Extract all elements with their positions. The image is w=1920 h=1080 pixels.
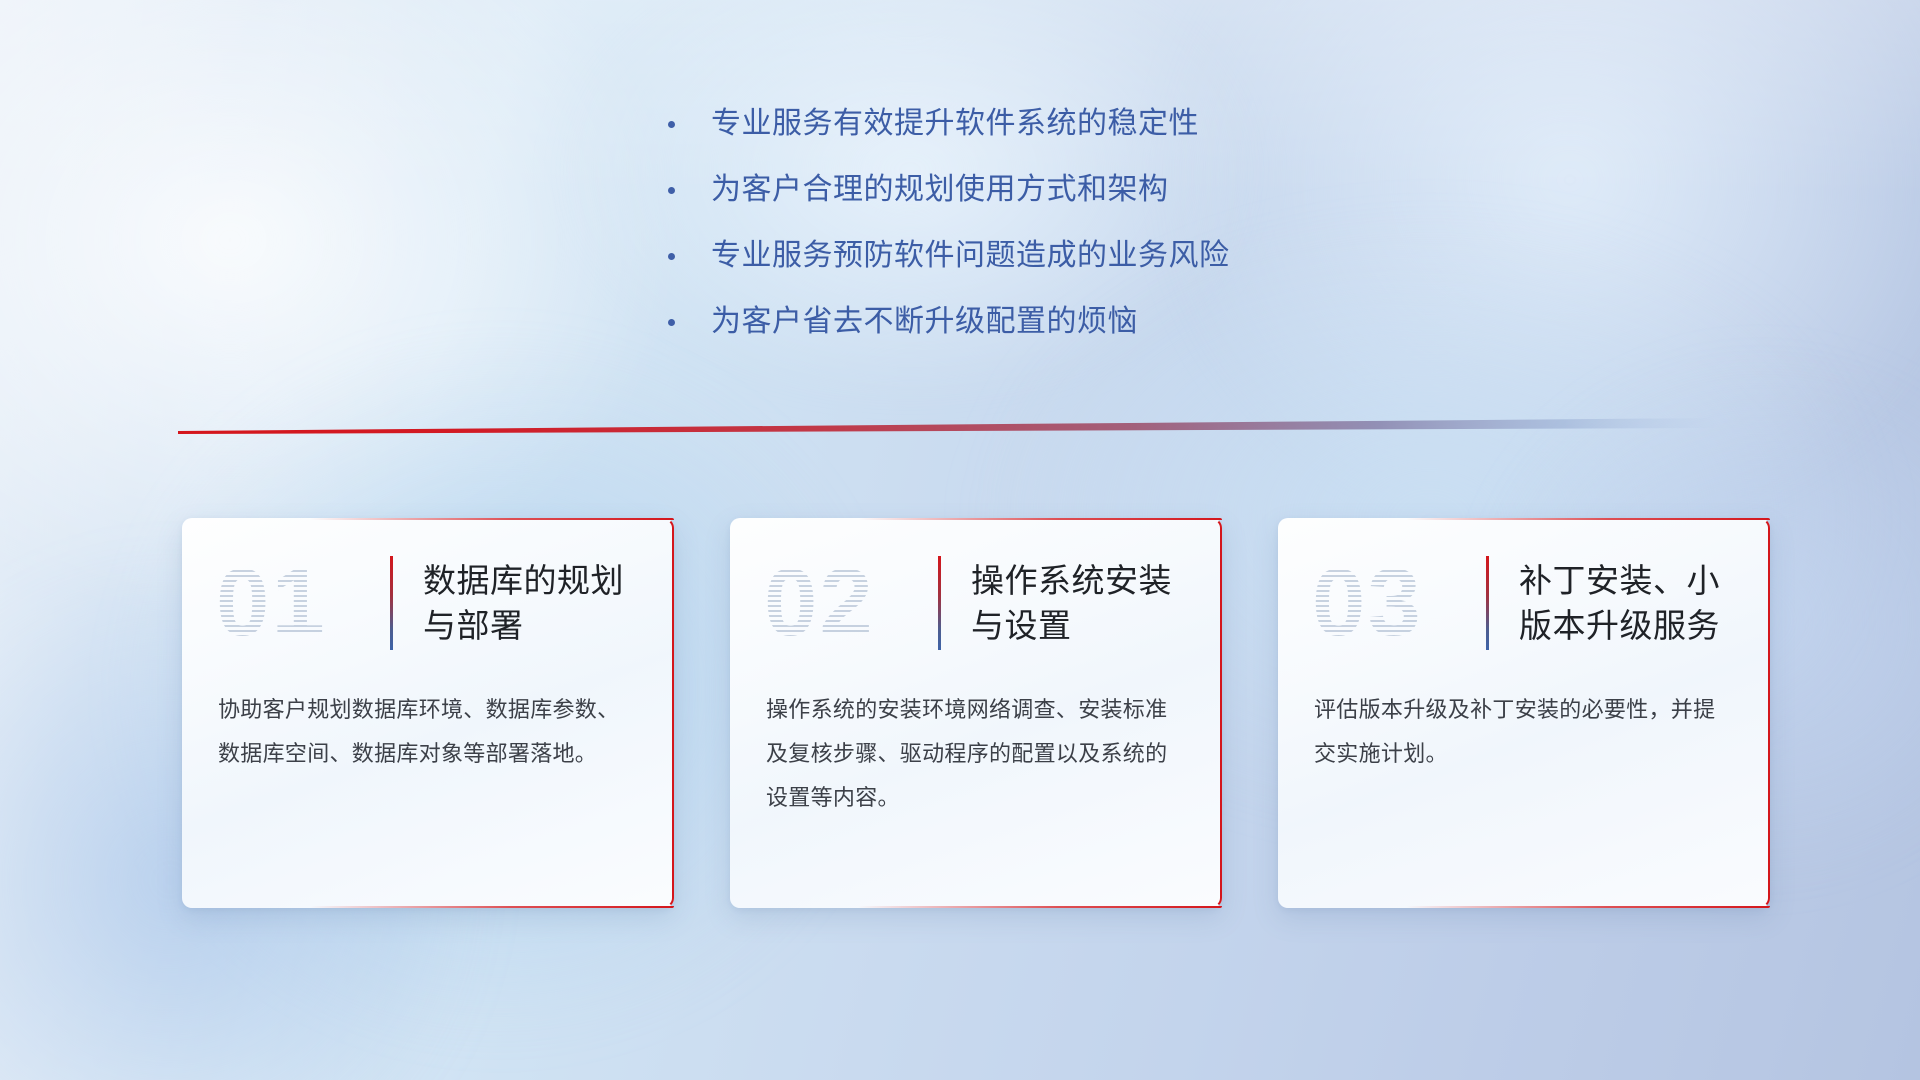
bullet-text: 专业服务预防软件问题造成的业务风险 (711, 236, 1230, 276)
bullet-text: 专业服务有效提升软件系统的稳定性 (711, 104, 1199, 144)
card-body-text: 评估版本升级及补丁安装的必要性，并提交实施计划。 (1278, 688, 1770, 776)
card-number: 03 (1312, 555, 1482, 651)
list-item: 为客户合理的规划使用方式和架构 (668, 170, 1428, 210)
card-accent-bottom (1406, 906, 1770, 908)
service-card-03[interactable]: 03 补丁安装、小版本升级服务 评估版本升级及补丁安装的必要性，并提交实施计划。 (1278, 518, 1770, 908)
card-header: 03 补丁安装、小版本升级服务 (1278, 518, 1770, 688)
card-body-text: 操作系统的安装环境网络调查、安装标准及复核步骤、驱动程序的配置以及系统的设置等内… (730, 688, 1222, 820)
bullet-dot-icon (668, 319, 675, 326)
list-item: 专业服务有效提升软件系统的稳定性 (668, 104, 1428, 144)
card-number-text: 03 (1312, 555, 1423, 651)
card-title: 数据库的规划与部署 (423, 558, 653, 648)
card-number: 01 (216, 555, 386, 651)
service-card-01[interactable]: 01 数据库的规划与部署 协助客户规划数据库环境、数据库参数、数据库空间、数据库… (182, 518, 674, 908)
card-divider-line (390, 556, 393, 650)
bullet-dot-icon (668, 187, 675, 194)
card-accent-bottom (858, 906, 1222, 908)
list-item: 专业服务预防软件问题造成的业务风险 (668, 236, 1428, 276)
service-card-02[interactable]: 02 操作系统安装与设置 操作系统的安装环境网络调查、安装标准及复核步骤、驱动程… (730, 518, 1222, 908)
card-accent-bottom (310, 906, 674, 908)
divider-wedge-icon (178, 418, 1718, 440)
bullet-dot-icon (668, 253, 675, 260)
card-number: 02 (764, 555, 934, 651)
list-item: 为客户省去不断升级配置的烦恼 (668, 302, 1428, 342)
card-title: 操作系统安装与设置 (971, 558, 1201, 648)
slide-canvas: 专业服务有效提升软件系统的稳定性 为客户合理的规划使用方式和架构 专业服务预防软… (0, 0, 1920, 1080)
section-divider (178, 418, 1718, 440)
card-number-text: 02 (764, 555, 875, 651)
bullet-text: 为客户省去不断升级配置的烦恼 (711, 302, 1138, 342)
card-body-text: 协助客户规划数据库环境、数据库参数、数据库空间、数据库对象等部署落地。 (182, 688, 674, 776)
card-header: 02 操作系统安装与设置 (730, 518, 1222, 688)
card-divider-line (1486, 556, 1489, 650)
card-number-text: 01 (216, 555, 327, 651)
service-card-list: 01 数据库的规划与部署 协助客户规划数据库环境、数据库参数、数据库空间、数据库… (182, 518, 1772, 908)
bullet-dot-icon (668, 121, 675, 128)
card-divider-line (938, 556, 941, 650)
card-header: 01 数据库的规划与部署 (182, 518, 674, 688)
benefits-bullet-list: 专业服务有效提升软件系统的稳定性 为客户合理的规划使用方式和架构 专业服务预防软… (668, 104, 1428, 368)
bullet-text: 为客户合理的规划使用方式和架构 (711, 170, 1169, 210)
card-title: 补丁安装、小版本升级服务 (1519, 558, 1749, 648)
